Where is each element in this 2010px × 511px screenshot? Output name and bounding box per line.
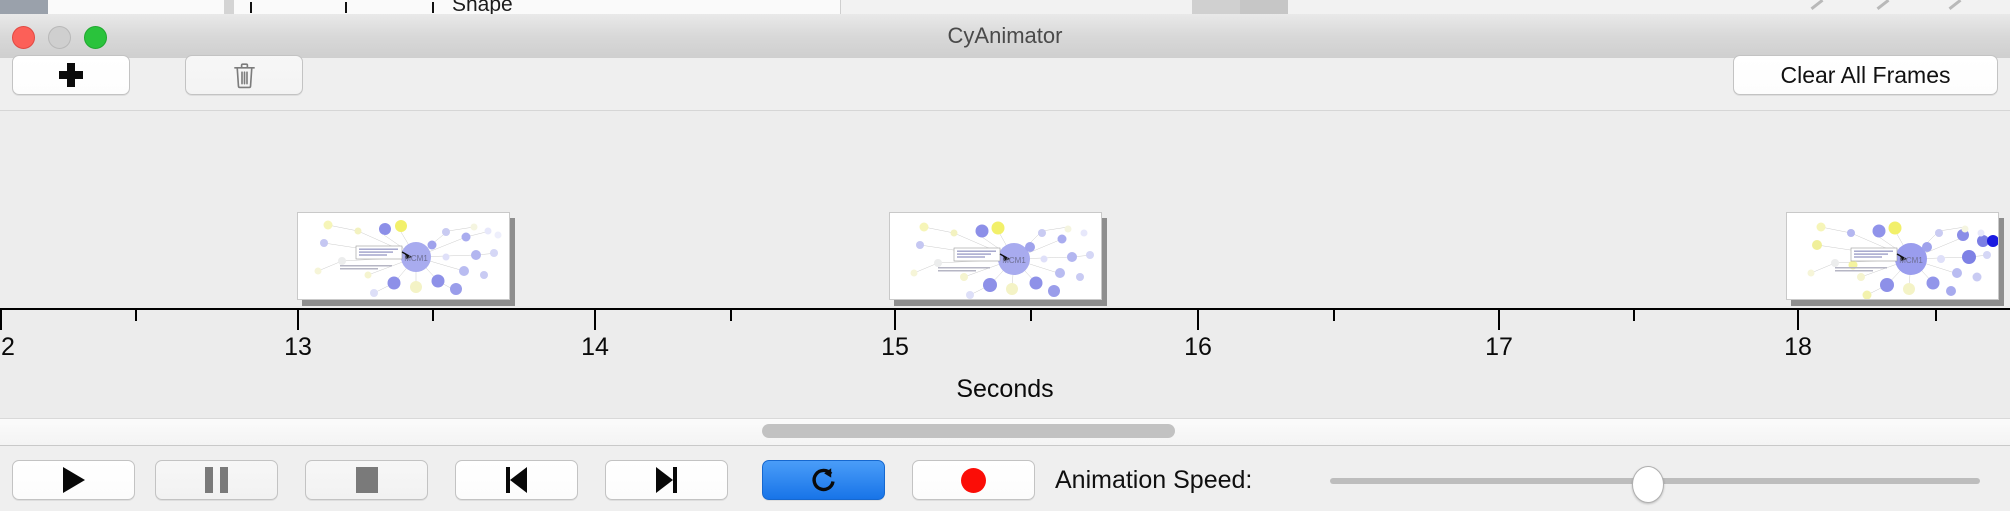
timeline-axis xyxy=(0,308,2010,310)
skip-end-button[interactable] xyxy=(605,460,728,500)
frame-thumbnail-2[interactable]: MCM1 xyxy=(889,212,1107,305)
loop-button[interactable] xyxy=(762,460,885,500)
skip-back-icon xyxy=(506,467,527,493)
network-graph-icon: MCM1 xyxy=(1787,213,1998,299)
axis-title: Seconds xyxy=(0,375,2010,404)
axis-tick xyxy=(0,310,2,330)
loop-icon xyxy=(809,465,839,495)
clear-all-frames-button[interactable]: Clear All Frames xyxy=(1733,55,1998,95)
record-icon xyxy=(961,468,986,493)
cyanimator-window: Shape CyAnimator Clear All Frames xyxy=(0,0,2010,510)
axis-tick xyxy=(135,310,137,321)
axis-tick-label: 16 xyxy=(1158,333,1238,362)
axis-tick xyxy=(1797,310,1799,330)
svg-text:MCM1: MCM1 xyxy=(1899,256,1923,265)
axis-tick xyxy=(297,310,299,330)
pause-button[interactable] xyxy=(155,460,278,500)
axis-tick-label: 18 xyxy=(1758,333,1838,362)
play-icon xyxy=(63,467,85,493)
axis-tick-label: 15 xyxy=(855,333,935,362)
thumbnail-sheet: MCM1 xyxy=(889,212,1102,300)
skip-forward-icon xyxy=(656,467,677,493)
axis-tick xyxy=(1498,310,1500,330)
thumbnail-sheet: MCM1 xyxy=(297,212,510,300)
background-window-text: Shape xyxy=(452,0,513,15)
record-button[interactable] xyxy=(912,460,1035,500)
delete-frame-button[interactable] xyxy=(185,55,303,95)
stop-icon xyxy=(356,467,378,493)
thumbnail-sheet: MCM1 xyxy=(1786,212,1999,300)
window-title: CyAnimator xyxy=(0,14,2010,58)
network-graph-icon: MCM1 xyxy=(298,213,509,299)
plus-icon xyxy=(58,62,84,88)
svg-text:MCM1: MCM1 xyxy=(1002,256,1026,265)
axis-tick-label: 13 xyxy=(258,333,338,362)
stop-button[interactable] xyxy=(305,460,428,500)
timeline-scrollbar-thumb[interactable] xyxy=(762,424,1175,438)
axis-tick xyxy=(1030,310,1032,321)
axis-tick xyxy=(1197,310,1199,330)
play-button[interactable] xyxy=(12,460,135,500)
add-frame-button[interactable] xyxy=(12,55,130,95)
svg-text:MCM1: MCM1 xyxy=(404,254,428,263)
frame-thumbnail-3[interactable]: MCM1 xyxy=(1786,212,2004,305)
frame-thumbnail-1[interactable]: MCM1 xyxy=(297,212,515,305)
axis-tick xyxy=(594,310,596,330)
axis-tick-label: 14 xyxy=(555,333,635,362)
pause-icon xyxy=(205,467,228,493)
axis-tick xyxy=(1333,310,1335,321)
axis-tick xyxy=(894,310,896,330)
network-graph-icon: MCM1 xyxy=(890,213,1101,299)
title-bar: CyAnimator xyxy=(0,14,2010,59)
animation-speed-label: Animation Speed: xyxy=(1055,460,1252,500)
animation-speed-slider-thumb[interactable] xyxy=(1632,466,1664,503)
axis-tick-label: 17 xyxy=(1459,333,1539,362)
trash-icon xyxy=(233,62,256,89)
axis-tick xyxy=(730,310,732,321)
axis-tick xyxy=(1935,310,1937,321)
axis-tick-label: 12 xyxy=(0,333,41,362)
axis-tick xyxy=(432,310,434,321)
background-window-strip: Shape xyxy=(0,0,2010,15)
axis-tick xyxy=(1633,310,1635,321)
skip-start-button[interactable] xyxy=(455,460,578,500)
